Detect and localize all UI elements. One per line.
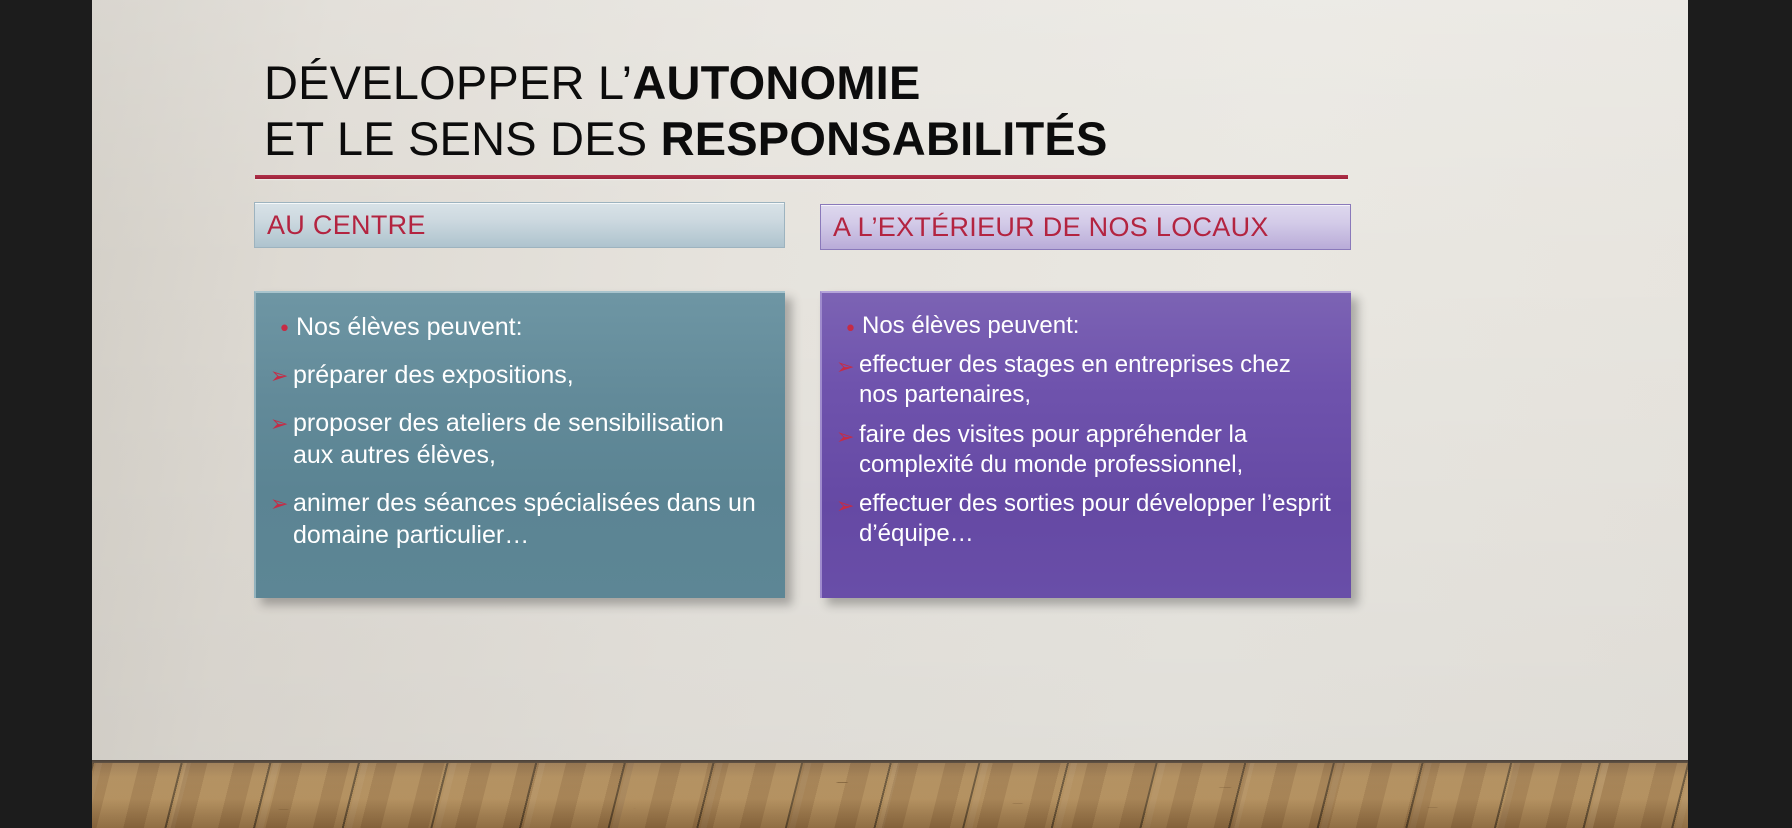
column-body-au-centre: • Nos élèves peuvent: ➢ préparer des exp… — [254, 291, 785, 598]
title-line2-bold: RESPONSABILITÉS — [661, 112, 1108, 165]
presentation-slide: DÉVELOPPER L’AUTONOMIE ET LE SENS DES RE… — [92, 0, 1688, 828]
title-line1-bold: AUTONOMIE — [632, 56, 920, 109]
list-item: ➢ proposer des ateliers de sensibilisati… — [270, 407, 769, 471]
list-item-text: Nos élèves peuvent: — [296, 311, 769, 343]
bullet-dot-icon: • — [270, 311, 296, 341]
list-item: ➢ effectuer des stages en entreprises ch… — [836, 350, 1335, 410]
arrow-bullet-icon: ➢ — [836, 420, 859, 449]
screenshot-stage: DÉVELOPPER L’AUTONOMIE ET LE SENS DES RE… — [0, 0, 1792, 828]
title-line1-normal: DÉVELOPPER L’ — [264, 56, 632, 109]
bullet-dot-icon: • — [836, 311, 862, 341]
slide-content: DÉVELOPPER L’AUTONOMIE ET LE SENS DES RE… — [92, 0, 1688, 763]
column-header-label: AU CENTRE — [267, 210, 426, 241]
list-item: • Nos élèves peuvent: — [270, 311, 769, 343]
column-header-au-centre[interactable]: AU CENTRE — [254, 202, 785, 248]
column-header-label: A L’EXTÉRIEUR DE NOS LOCAUX — [833, 212, 1269, 243]
arrow-bullet-icon: ➢ — [836, 489, 859, 518]
list-item-text: effectuer des sorties pour développer l’… — [859, 489, 1335, 549]
arrow-bullet-icon: ➢ — [270, 487, 293, 516]
list-item-text: proposer des ateliers de sensibilisation… — [293, 407, 769, 471]
list-item: ➢ animer des séances spécialisées dans u… — [270, 487, 769, 551]
arrow-bullet-icon: ➢ — [836, 350, 859, 379]
column-body-a-l-exterieur: • Nos élèves peuvent: ➢ effectuer des st… — [820, 291, 1351, 598]
list-item-text: faire des visites pour appréhender la co… — [859, 420, 1335, 480]
slide-title: DÉVELOPPER L’AUTONOMIE ET LE SENS DES RE… — [264, 58, 1464, 164]
list-item: ➢ préparer des expositions, — [270, 359, 769, 391]
title-line2-normal: ET LE SENS DES — [264, 112, 661, 165]
list-item: ➢ faire des visites pour appréhender la … — [836, 420, 1335, 480]
list-item-text: effectuer des stages en entreprises chez… — [859, 350, 1335, 410]
title-divider-rule — [255, 175, 1348, 179]
column-header-a-l-exterieur[interactable]: A L’EXTÉRIEUR DE NOS LOCAUX — [820, 204, 1351, 250]
list-item-text: Nos élèves peuvent: — [862, 311, 1335, 341]
arrow-bullet-icon: ➢ — [270, 359, 293, 388]
list-item-text: animer des séances spécialisées dans un … — [293, 487, 769, 551]
wooden-floor — [92, 763, 1688, 828]
list-item: ➢ effectuer des sorties pour développer … — [836, 489, 1335, 549]
list-item: • Nos élèves peuvent: — [836, 311, 1335, 341]
list-item-text: préparer des expositions, — [293, 359, 769, 391]
arrow-bullet-icon: ➢ — [270, 407, 293, 436]
